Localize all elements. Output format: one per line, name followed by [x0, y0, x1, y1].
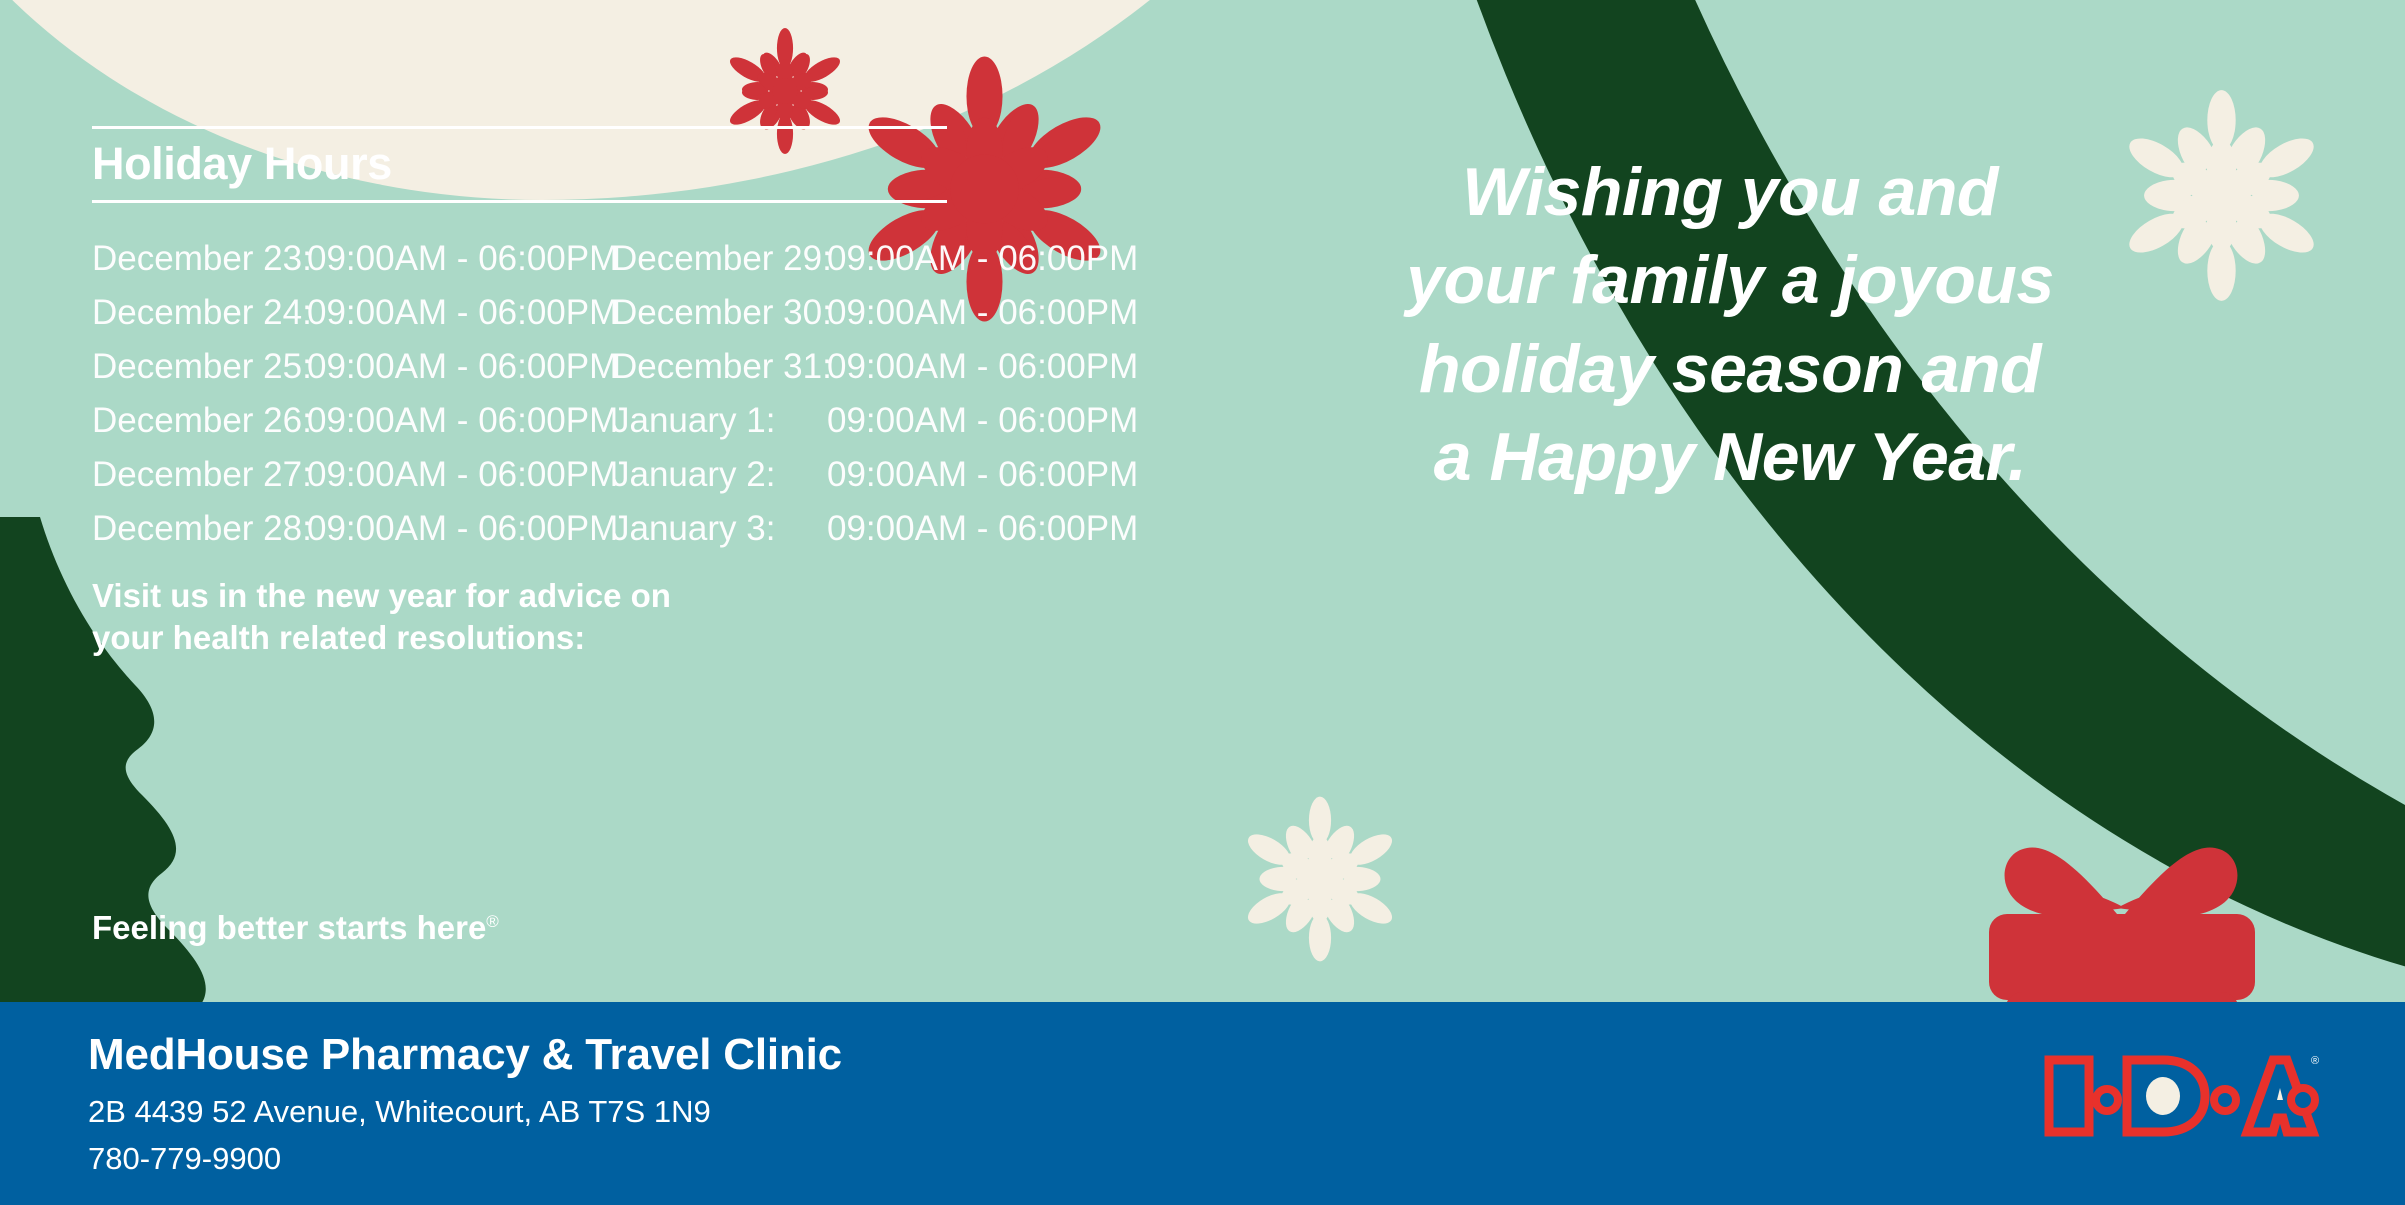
hours-time-value: 09:00AM - 06:00PM — [827, 239, 1138, 279]
hours-row: December 31: 09:00AM - 06:00PM — [612, 347, 1132, 387]
hours-time-value: 09:00AM - 06:00PM — [827, 455, 1138, 495]
hours-title: Holiday Hours — [92, 129, 1202, 200]
greeting-line-3: holiday season and — [1330, 325, 2130, 413]
greeting-line-4: a Happy New Year. — [1330, 413, 2130, 501]
ida-registered-mark: ® — [2311, 1055, 2319, 1067]
hours-day-label: January 2: — [612, 455, 827, 495]
greeting-line-2: your family a joyous — [1330, 236, 2130, 324]
greeting-line-1: Wishing you and — [1330, 148, 2130, 236]
snowflake-icon-cream-top-right — [2114, 88, 2329, 303]
brand-tagline: Feeling better starts here® — [92, 909, 499, 947]
hours-row: December 28: 09:00AM - 06:00PM — [92, 509, 612, 549]
hours-row: December 30: 09:00AM - 06:00PM — [612, 293, 1132, 333]
footer-bar: MedHouse Pharmacy & Travel Clinic 2B 443… — [0, 1002, 2405, 1205]
hours-time-value: 09:00AM - 06:00PM — [307, 509, 618, 549]
hours-day-label: December 27: — [92, 455, 307, 495]
hours-day-label: December 31: — [612, 347, 827, 387]
store-phone: 780-779-9900 — [88, 1141, 842, 1177]
hours-row: December 24: 09:00AM - 06:00PM — [92, 293, 612, 333]
visit-note-line-2: your health related resolutions: — [92, 617, 852, 659]
snowflake-icon-cream-middle — [1236, 795, 1404, 963]
visit-note-line-1: Visit us in the new year for advice on — [92, 575, 852, 617]
hours-row: December 25: 09:00AM - 06:00PM — [92, 347, 612, 387]
visit-note: Visit us in the new year for advice on y… — [92, 575, 852, 659]
hours-row: January 2: 09:00AM - 06:00PM — [612, 455, 1132, 495]
hours-day-label: December 28: — [92, 509, 307, 549]
hours-time-value: 09:00AM - 06:00PM — [307, 347, 618, 387]
hours-day-label: December 26: — [92, 401, 307, 441]
hours-row: January 1: 09:00AM - 06:00PM — [612, 401, 1132, 441]
hours-row: December 26: 09:00AM - 06:00PM — [92, 401, 612, 441]
hours-day-label: December 29: — [612, 239, 827, 279]
greeting-message: Wishing you and your family a joyous hol… — [1330, 148, 2130, 502]
holiday-hours-panel: Holiday Hours December 23: 09:00AM - 06:… — [92, 126, 1202, 549]
hours-row: December 27: 09:00AM - 06:00PM — [92, 455, 612, 495]
hours-time-value: 09:00AM - 06:00PM — [307, 239, 618, 279]
hours-day-label: January 1: — [612, 401, 827, 441]
hours-row: December 29: 09:00AM - 06:00PM — [612, 239, 1132, 279]
footer-contact-block: MedHouse Pharmacy & Travel Clinic 2B 443… — [88, 1030, 842, 1177]
ida-logo: ® — [2035, 1044, 2325, 1148]
hours-day-label: January 3: — [612, 509, 827, 549]
hours-row: January 3: 09:00AM - 06:00PM — [612, 509, 1132, 549]
hours-day-label: December 30: — [612, 293, 827, 333]
hours-day-label: December 23: — [92, 239, 307, 279]
holiday-greeting-card: Holiday Hours December 23: 09:00AM - 06:… — [0, 0, 2405, 1205]
hours-bottom-rule — [92, 200, 947, 203]
hours-time-value: 09:00AM - 06:00PM — [827, 347, 1138, 387]
hours-row: December 23: 09:00AM - 06:00PM — [92, 239, 612, 279]
registered-mark: ® — [486, 912, 499, 931]
hours-time-value: 09:00AM - 06:00PM — [307, 455, 618, 495]
hours-day-label: December 25: — [92, 347, 307, 387]
brand-tagline-text: Feeling better starts here — [92, 909, 486, 946]
hours-time-value: 09:00AM - 06:00PM — [307, 401, 618, 441]
store-name: MedHouse Pharmacy & Travel Clinic — [88, 1030, 842, 1080]
hours-time-value: 09:00AM - 06:00PM — [827, 293, 1138, 333]
hours-time-value: 09:00AM - 06:00PM — [827, 509, 1138, 549]
hours-time-value: 09:00AM - 06:00PM — [827, 401, 1138, 441]
hours-time-value: 09:00AM - 06:00PM — [307, 293, 618, 333]
hours-day-label: December 24: — [92, 293, 307, 333]
store-address: 2B 4439 52 Avenue, Whitecourt, AB T7S 1N… — [88, 1094, 842, 1130]
hours-grid: December 23: 09:00AM - 06:00PM December … — [92, 239, 1202, 549]
